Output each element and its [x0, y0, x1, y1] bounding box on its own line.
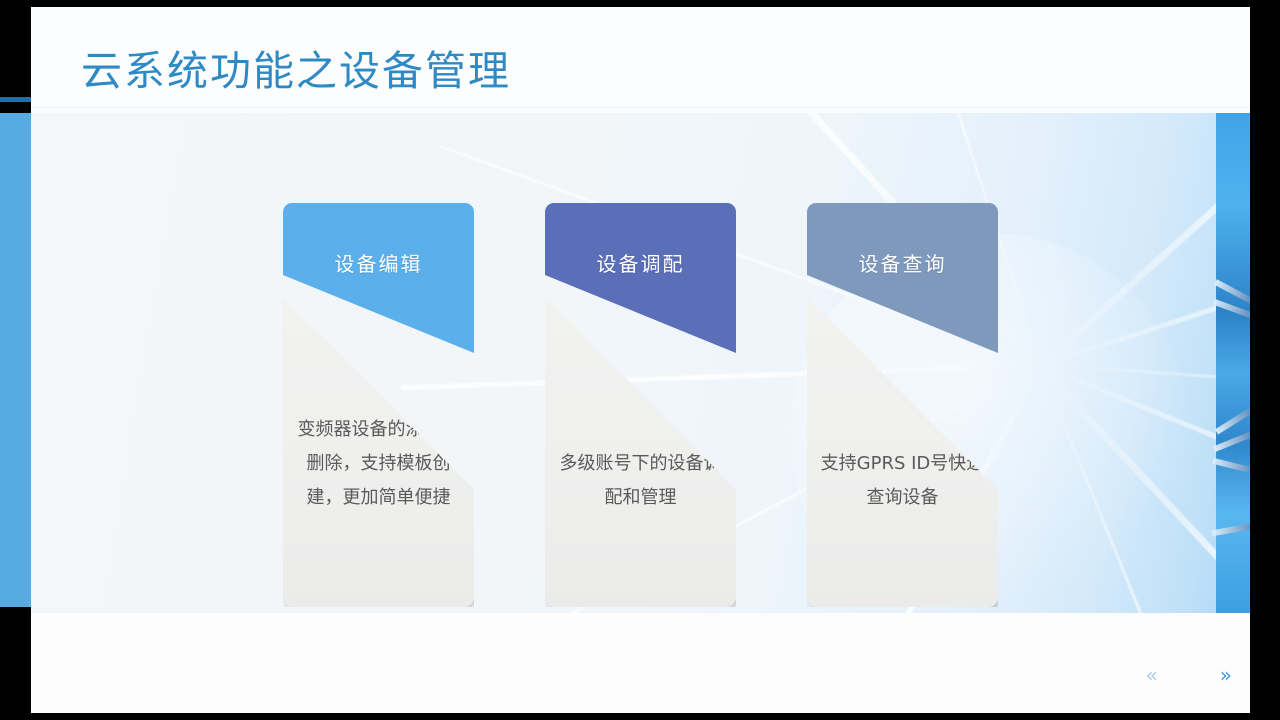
card-body-panel: 多级账号下的设备调配和管理: [545, 297, 736, 607]
page-title: 云系统功能之设备管理: [81, 37, 511, 97]
left-rail-bar: [0, 113, 31, 607]
slide-stage: 云系统功能之设备管理: [0, 0, 1280, 720]
feature-card-device-edit[interactable]: 设备编辑 变频器设备的添加与删除，支持模板创建，更加简单便捷: [283, 203, 474, 607]
navigation-controls: « »: [1146, 665, 1233, 685]
next-slide-icon[interactable]: »: [1220, 665, 1232, 685]
card-body-panel: 支持GPRS ID号快速查询设备: [807, 297, 998, 607]
left-rail-top-line: [0, 97, 31, 102]
feature-card-device-query[interactable]: 设备查询 支持GPRS ID号快速查询设备: [807, 203, 998, 607]
feature-card-device-allocation[interactable]: 设备调配 多级账号下的设备调配和管理: [545, 203, 736, 607]
slide-content-area: 设备编辑 变频器设备的添加与删除，支持模板创建，更加简单便捷 设备调配 多级账号…: [31, 113, 1250, 613]
feature-card-list: 设备编辑 变频器设备的添加与删除，支持模板创建，更加简单便捷 设备调配 多级账号…: [31, 113, 1250, 613]
card-description: 支持GPRS ID号快速查询设备: [817, 447, 988, 515]
card-body-panel: 变频器设备的添加与删除，支持模板创建，更加简单便捷: [283, 297, 474, 607]
header-divider: [31, 107, 1250, 108]
card-title: 设备编辑: [283, 248, 474, 277]
previous-slide-icon[interactable]: «: [1146, 665, 1158, 685]
slide-header: 云系统功能之设备管理: [31, 7, 1250, 102]
slide-surface: 云系统功能之设备管理: [31, 7, 1250, 713]
slide-footer: « »: [31, 613, 1250, 713]
card-description: 变频器设备的添加与删除，支持模板创建，更加简单便捷: [293, 413, 464, 515]
card-title: 设备查询: [807, 248, 998, 277]
card-title: 设备调配: [545, 248, 736, 277]
card-description: 多级账号下的设备调配和管理: [555, 447, 726, 515]
